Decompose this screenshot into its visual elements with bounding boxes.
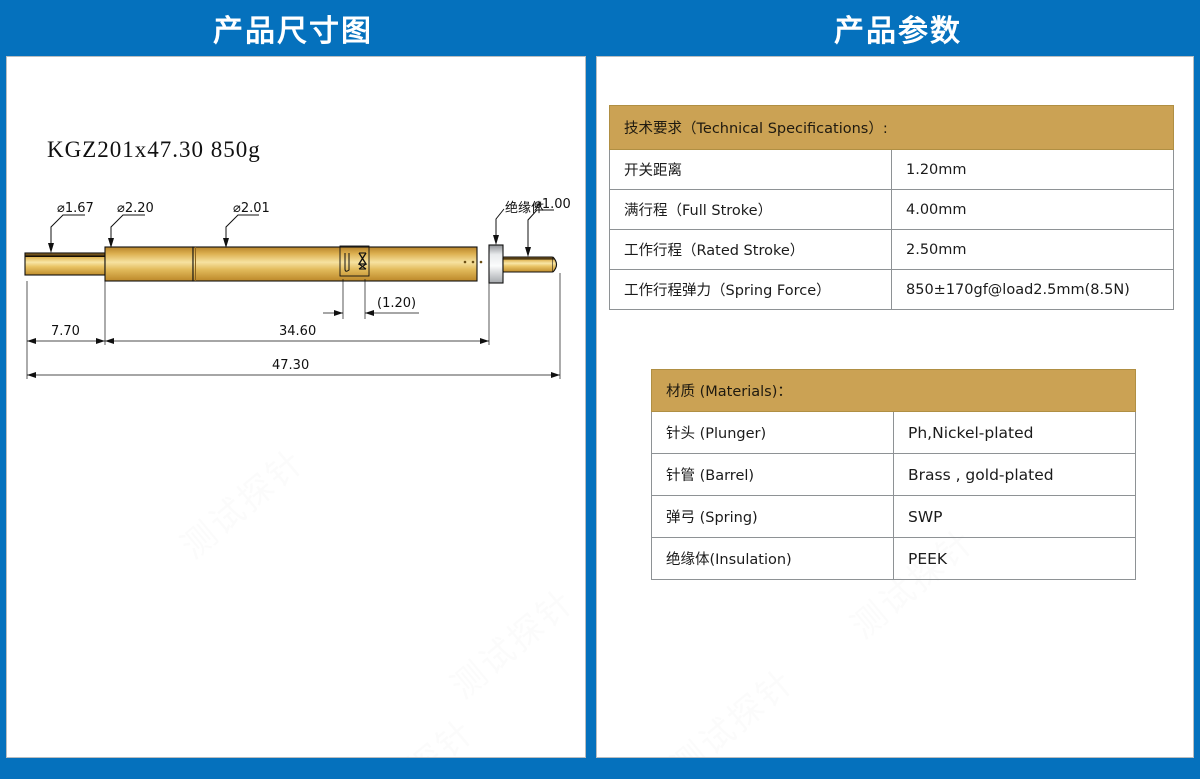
dimension-label: (1.20) bbox=[377, 296, 416, 311]
dimension-7-70: 7.70 bbox=[27, 324, 105, 344]
table-row: 绝缘体(Insulation) PEEK bbox=[652, 538, 1136, 580]
table-row: 针头 (Plunger) Ph,Nickel-plated bbox=[652, 412, 1136, 454]
probe-insulation-collar bbox=[489, 245, 503, 283]
dimension-drawing-panel: 测试探针 测试探针 测试探针 KGZ201x47.30 850g bbox=[6, 56, 586, 758]
material-key: 弹弓 (Spring) bbox=[652, 496, 894, 538]
dimension-label: 47.30 bbox=[272, 358, 309, 373]
material-value: PEEK bbox=[894, 538, 1136, 580]
spec-key: 开关距离 bbox=[610, 150, 892, 190]
watermark: 测试探针 bbox=[339, 705, 484, 758]
table-header-row: 技术要求（Technical Specifications）: bbox=[610, 106, 1174, 150]
material-key: 针头 (Plunger) bbox=[652, 412, 894, 454]
watermark: 测试探针 bbox=[169, 435, 314, 568]
materials-table-header: 材质 (Materials)： bbox=[652, 370, 1136, 412]
table-row: 开关距离 1.20mm bbox=[610, 150, 1174, 190]
probe-barrel-section-1 bbox=[105, 247, 193, 281]
page-root: 产品尺寸图 产品参数 测试探针 测试探针 测试探针 KGZ201x47.30 8… bbox=[0, 0, 1200, 779]
material-value: SWP bbox=[894, 496, 1136, 538]
callout-label: ⌀1.00 bbox=[534, 197, 571, 212]
material-value: Brass , gold-plated bbox=[894, 454, 1136, 496]
probe-barrel-section-2 bbox=[193, 247, 477, 281]
table-row: 针管 (Barrel) Brass , gold-plated bbox=[652, 454, 1136, 496]
spec-key: 工作行程（Rated Stroke） bbox=[610, 230, 892, 270]
dimension-label: 7.70 bbox=[51, 324, 80, 339]
spec-table-header: 技术要求（Technical Specifications）: bbox=[610, 106, 1174, 150]
table-row: 工作行程（Rated Stroke） 2.50mm bbox=[610, 230, 1174, 270]
callout-label: ⌀2.20 bbox=[117, 201, 154, 216]
section-title-dimension-drawing: 产品尺寸图 bbox=[0, 0, 586, 56]
watermark: 测试探针 bbox=[659, 655, 804, 758]
table-row: 工作行程弹力（Spring Force） 850±170gf@load2.5mm… bbox=[610, 270, 1174, 310]
spec-value: 4.00mm bbox=[892, 190, 1174, 230]
table-row: 弹弓 (Spring) SWP bbox=[652, 496, 1136, 538]
material-key: 针管 (Barrel) bbox=[652, 454, 894, 496]
product-parameters-panel: 测试探针 测试探针 技术要求（Technical Specifications）… bbox=[596, 56, 1194, 758]
section-title-product-parameters: 产品参数 bbox=[596, 0, 1200, 56]
spec-value: 1.20mm bbox=[892, 150, 1174, 190]
callout-d201: ⌀2.01 bbox=[223, 201, 270, 248]
dimension-34-60: 34.60 bbox=[105, 324, 489, 344]
callout-d220: ⌀2.20 bbox=[108, 201, 154, 248]
materials-table: 材质 (Materials)： 针头 (Plunger) Ph,Nickel-p… bbox=[651, 369, 1136, 580]
callout-label: ⌀1.67 bbox=[57, 201, 94, 216]
spec-key: 满行程（Full Stroke） bbox=[610, 190, 892, 230]
callout-label: ⌀2.01 bbox=[233, 201, 270, 216]
dimension-1-20: (1.20) bbox=[323, 296, 419, 316]
dimension-47-30: 47.30 bbox=[27, 358, 560, 378]
spec-key: 工作行程弹力（Spring Force） bbox=[610, 270, 892, 310]
probe-left-plunger bbox=[25, 253, 105, 275]
table-header-row: 材质 (Materials)： bbox=[652, 370, 1136, 412]
spec-value: 2.50mm bbox=[892, 230, 1174, 270]
probe-right-plunger bbox=[503, 257, 553, 272]
technical-specifications-table: 技术要求（Technical Specifications）: 开关距离 1.2… bbox=[609, 105, 1174, 310]
material-value: Ph,Nickel-plated bbox=[894, 412, 1136, 454]
watermark: 测试探针 bbox=[439, 575, 584, 708]
table-row: 满行程（Full Stroke） 4.00mm bbox=[610, 190, 1174, 230]
callout-d167: ⌀1.67 bbox=[48, 201, 94, 253]
spec-value: 850±170gf@load2.5mm(8.5N) bbox=[892, 270, 1174, 310]
probe-pin-technical-drawing: ⌀1.67 ⌀2.20 ⌀2.01 绝缘体 bbox=[7, 57, 586, 387]
material-key: 绝缘体(Insulation) bbox=[652, 538, 894, 580]
dimension-label: 34.60 bbox=[279, 324, 316, 339]
